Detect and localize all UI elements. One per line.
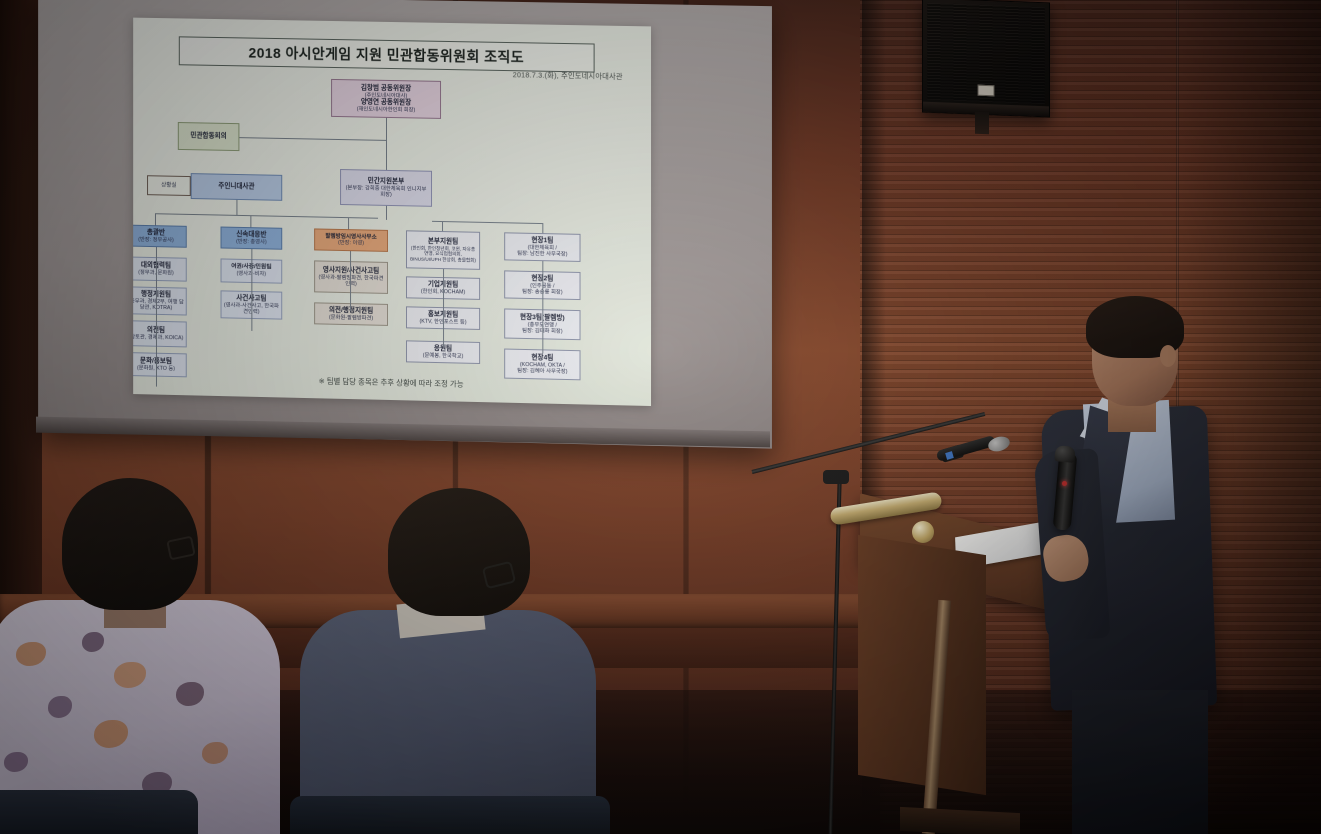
- floral-motif: [16, 642, 46, 666]
- connector: [432, 221, 542, 224]
- floral-motif: [176, 682, 204, 706]
- connector: [250, 215, 251, 227]
- node-general-team: 총괄반 (반장: 정무공사): [133, 225, 187, 248]
- attendee-1-chair: [0, 790, 198, 834]
- wall-speaker-icon: [922, 0, 1050, 117]
- presenter-ear: [1160, 345, 1176, 367]
- slide-title: 2018 아시안게임 지원 민관합동위원회 조직도: [179, 36, 595, 72]
- connector: [156, 247, 157, 386]
- connector: [386, 118, 387, 136]
- connector: [443, 269, 444, 347]
- floral-motif: [94, 720, 128, 748]
- node-left-0: 대외협력팀 (정무과, 문화원): [133, 256, 187, 281]
- connector: [386, 206, 387, 220]
- connector: [542, 261, 543, 353]
- node-civil-hq: 민간지원본부 (본부장: 강희중 대한체육회 인니지부 회장): [340, 169, 432, 207]
- handheld-microphone-head: [1054, 445, 1075, 463]
- connector: [251, 249, 252, 331]
- node-field-office: 팔렘방임시영사사무소 (반장: 이영): [314, 228, 388, 252]
- slide-date-line: 2018.7.3.(화), 주인도네시아대사관: [513, 70, 623, 82]
- node-orange-0: 영사지원/사건사고팀 (영사과-팔렘방파견, 한국파견인력): [314, 260, 388, 294]
- podium-front-panel: [858, 535, 986, 795]
- node-embassy: 주인니대사관: [191, 173, 283, 201]
- projected-slide: 2018 아시안게임 지원 민관합동위원회 조직도 2018.7.3.(화), …: [133, 18, 651, 406]
- microphone-stand-joint: [823, 470, 849, 484]
- presenter-trousers: [1072, 690, 1208, 834]
- photo-scene: 2018 아시안게임 지원 민관합동위원회 조직도 2018.7.3.(화), …: [0, 0, 1321, 834]
- connector: [348, 217, 349, 229]
- floral-motif: [82, 632, 104, 652]
- floral-motif: [114, 662, 146, 688]
- node-left-2: 의전팀 (상토관, 경제과, KOICA): [133, 320, 187, 347]
- floral-motif: [4, 752, 28, 772]
- floral-motif: [202, 742, 228, 764]
- podium-gold-knob: [912, 521, 934, 543]
- floral-motif: [48, 696, 72, 718]
- node-chairperson: 김창범 공동위원장 (주인도네시아대사) 양영연 공동위원장 (재인도네시아한인…: [331, 79, 441, 119]
- speaker-mount-bracket: [975, 112, 989, 134]
- node-rapid-team: 신속대응반 (반장: 총영사): [221, 227, 283, 250]
- node-left-1: 행정지원팀 (총무과, 경제2부, 여행 담당관, KOTRA): [133, 286, 187, 315]
- connector: [236, 137, 386, 141]
- node-right-0: 현장1팀 (대한체육회 / 팀장: 남진한 사무국장): [504, 232, 580, 262]
- connector: [155, 213, 156, 225]
- node-center-0: 본부지원팀 (한인회, 한인청년회, 코윈, 자유총연맹, 요식업협의회, BI…: [406, 230, 480, 270]
- speaker-badge: [978, 85, 995, 97]
- microphone-power-led: [1062, 481, 1067, 486]
- node-situation-room: 상황실: [147, 175, 191, 196]
- connector: [236, 200, 237, 215]
- node-orange-1: 의전/행정지원팀 (문화원-팔렘방파견): [314, 302, 388, 326]
- connector: [155, 213, 378, 219]
- attendee-2-hair: [388, 488, 530, 616]
- node-council: 민관합동회의: [178, 122, 240, 151]
- connector: [350, 251, 351, 311]
- attendee-2-chair: [290, 796, 610, 834]
